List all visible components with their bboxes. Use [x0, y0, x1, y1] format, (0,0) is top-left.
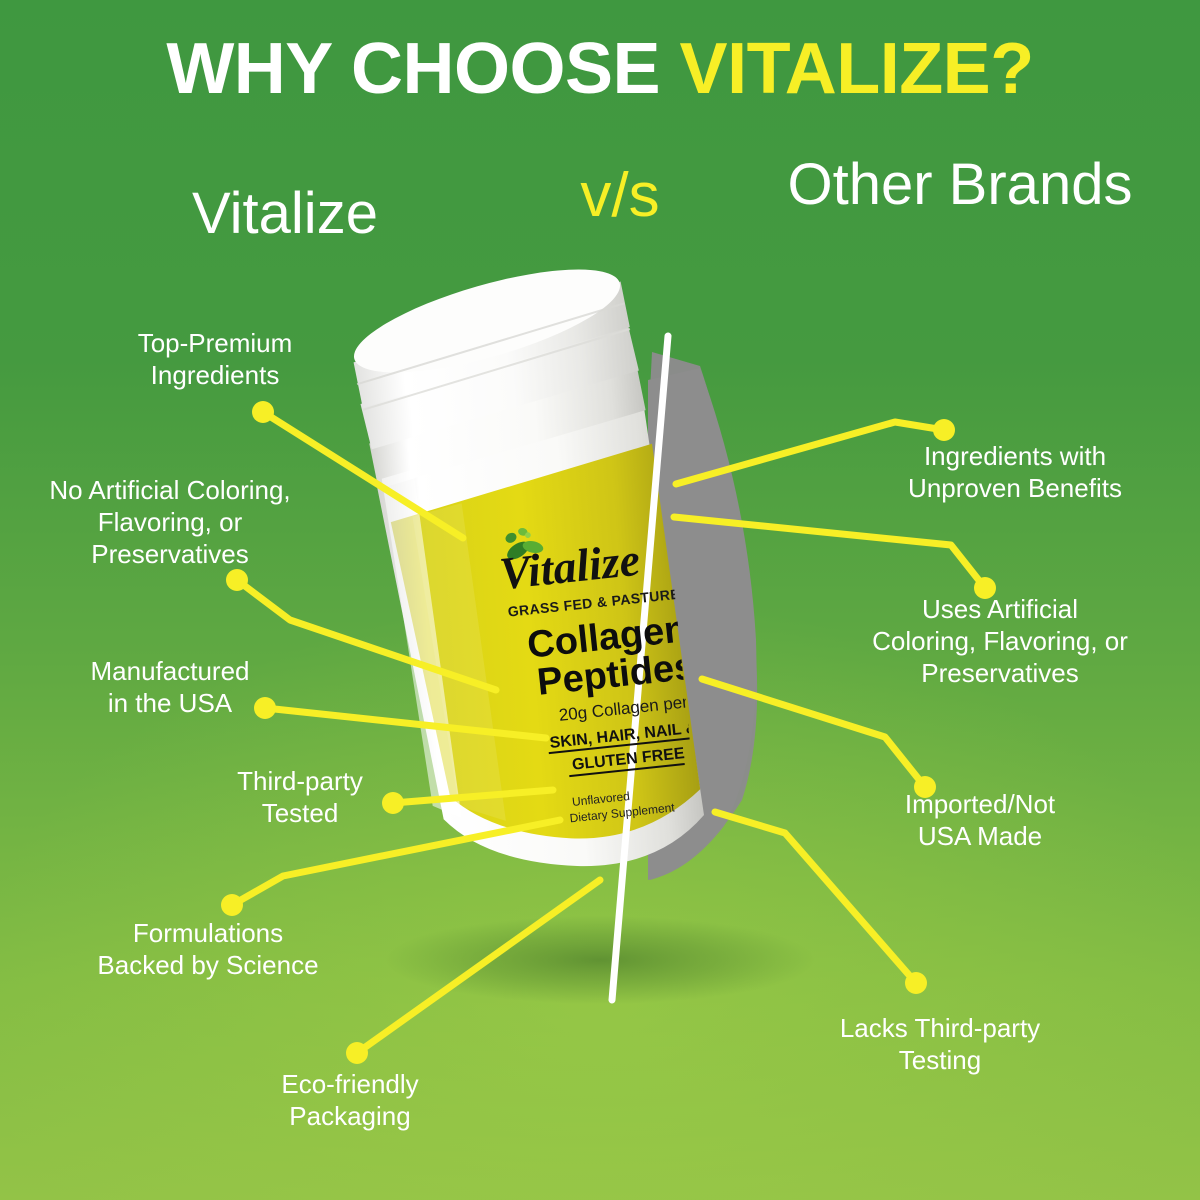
column-heading-other-brands: Other Brands	[760, 155, 1160, 215]
title-prefix: WHY CHOOSE	[166, 29, 679, 109]
dot-lacks-third-party	[905, 972, 927, 994]
versus-label: v/s	[520, 160, 720, 231]
title-highlight: VITALIZE?	[680, 29, 1034, 109]
dot-no-artificial-coloring	[226, 569, 248, 591]
connector-dots-right	[905, 419, 996, 994]
column-heading-vitalize: Vitalize	[60, 184, 510, 244]
dot-formulations-science	[221, 894, 243, 916]
vitalize-feature-label: Formulations Backed by Science	[48, 917, 368, 981]
comparison-infographic: Vitalize GRASS FED & PASTURE RAISED Coll…	[0, 0, 1200, 1200]
dot-eco-friendly-packaging	[346, 1042, 368, 1064]
connector-formulations-science	[232, 820, 560, 905]
vitalize-feature-label: Manufactured in the USA	[30, 655, 310, 719]
vitalize-feature-label: Eco-friendly Packaging	[215, 1068, 485, 1132]
other-brands-feature-label: Imported/Not USA Made	[840, 788, 1120, 852]
other-brands-feature-label: Lacks Third-party Testing	[770, 1012, 1110, 1076]
vitalize-feature-label: Top-Premium Ingredients	[60, 327, 370, 391]
other-brands-feature-label: Ingredients with Unproven Benefits	[855, 440, 1175, 504]
dot-top-premium-ingredients	[252, 401, 274, 423]
dot-unproven-benefits	[933, 419, 955, 441]
page-title: WHY CHOOSE VITALIZE?	[0, 28, 1200, 110]
vitalize-feature-label: No Artificial Coloring, Flavoring, or Pr…	[10, 474, 330, 571]
vitalize-feature-label: Third-party Tested	[180, 765, 420, 829]
other-brands-feature-label: Uses Artificial Coloring, Flavoring, or …	[835, 593, 1165, 690]
